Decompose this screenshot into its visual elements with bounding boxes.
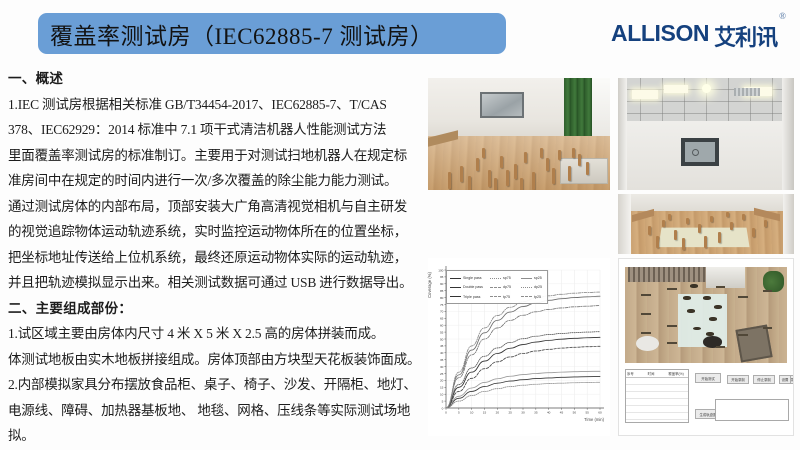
legend-label: sp75 [503, 276, 511, 280]
floor-peg-obstacle [572, 148, 575, 158]
chart-y-tick-label: 90 [440, 282, 444, 286]
table-row[interactable] [626, 413, 688, 420]
ceiling-light-left [632, 90, 658, 99]
chart-y-tick-label: 10 [440, 393, 444, 397]
slide-header: 覆盖率测试房（IEC62885-7 测试房） ALLISON 艾利讯 ® [0, 0, 800, 68]
chart-y-tick-label: 50 [440, 337, 444, 341]
table-row[interactable] [626, 392, 688, 399]
chart-x-tick-label: 45 [560, 410, 564, 414]
title-banner: 覆盖率测试房（IEC62885-7 测试房） [38, 13, 506, 54]
legend-label: Triple pass [463, 295, 480, 299]
camera-feed-view [625, 267, 787, 363]
floor-peg-obstacle [686, 218, 689, 224]
wall-window [480, 92, 524, 118]
legend-line-swatch [450, 287, 461, 288]
chart-x-tick-label: 10 [470, 410, 474, 414]
chart-y-tick-label: 45 [440, 344, 444, 348]
chart-y-tick-label: 85 [440, 289, 444, 293]
log-textarea[interactable] [715, 399, 789, 421]
floor-peg-obstacle [494, 178, 497, 190]
chart-y-tick-label: 60 [440, 324, 444, 328]
debris-marker [709, 317, 717, 321]
floor-peg-obstacle [558, 150, 561, 160]
legend-entry: tp75 [490, 295, 521, 299]
button-2[interactable]: 停止录制 [753, 375, 775, 384]
floor-reference-mark [667, 325, 677, 327]
floor-peg-obstacle [468, 176, 471, 190]
legend-label: Double pass [463, 285, 483, 289]
body-line: 1.试区域主要由房体内尺寸 4 米 X 5 米 X 2.5 高的房体拼装而成。 [8, 321, 426, 347]
overhead-plant [763, 271, 784, 292]
legend-line-swatch [450, 296, 461, 297]
table-column-header: 序号 [626, 370, 647, 377]
company-logo: ALLISON 艾利讯 ® [611, 20, 786, 52]
button-1[interactable]: 开始录制 [727, 375, 749, 384]
chart-x-tick-label: 5 [458, 410, 460, 414]
floor-peg-obstacle [482, 148, 485, 158]
chart-y-axis-label: Coverage (%) [427, 272, 432, 298]
chart-x-tick-label: 30 [521, 410, 525, 414]
chart-y-tick-label: 75 [440, 303, 444, 307]
chart-x-tick-label: 50 [573, 410, 577, 414]
floor-peg-obstacle [682, 238, 685, 250]
chart-x-axis-label: Time (min) [584, 417, 604, 422]
body-heading: 一、概述 [8, 66, 426, 92]
floor-peg-obstacle [764, 220, 767, 227]
floor-peg-obstacle [546, 158, 549, 171]
floor-reference-mark [641, 294, 651, 296]
legend-entry: sp75 [490, 276, 521, 280]
floor-peg-obstacle [704, 236, 707, 248]
overhead-ceiling-grid [628, 267, 709, 282]
legend-label: sp25 [534, 276, 542, 280]
body-line: 把坐标地址传送给上位机系统，最终还原运动物体实际的运动轨迹， [8, 245, 426, 271]
legend-entry: tp25 [521, 295, 552, 299]
table-row[interactable] [626, 378, 688, 385]
chart-y-tick-label: 95 [440, 275, 444, 279]
legend-line-swatch [521, 296, 532, 297]
page-title: 覆盖率测试房（IEC62885-7 测试房） [50, 17, 433, 51]
photo-room-pegs [428, 78, 610, 190]
table-column-header: 覆盖率(%) [667, 370, 688, 377]
debris-marker [690, 284, 698, 288]
floor-peg-obstacle [460, 166, 463, 182]
body-line: 通过测试房体的内部布局，顶部安装大广角高清视觉相机与自主研发 [8, 194, 426, 220]
floor-peg-obstacle [448, 172, 451, 189]
floor-peg-obstacle [500, 156, 503, 168]
body-line: 准房间中在规定的时间内进行一次/多次覆盖的除尘能力能力测试。 [8, 168, 426, 194]
chart-y-tick-label: 100 [438, 268, 443, 272]
legend-line-swatch [450, 278, 461, 279]
table-row[interactable] [626, 406, 688, 413]
table-row[interactable] [626, 399, 688, 406]
results-table[interactable]: 序号时间覆盖率(%) [625, 369, 689, 423]
floor-peg-obstacle [488, 170, 491, 187]
floor-peg-obstacle [726, 212, 729, 217]
floor-peg-obstacle [742, 214, 745, 220]
legend-entry: Single pass [450, 276, 490, 280]
body-line: 378、IEC62929：2014 标准中 7.1 项干式清洁机器人性能测试方法 [8, 117, 426, 143]
legend-label: tp75 [503, 295, 510, 299]
debris-marker [703, 296, 711, 300]
body-heading: 二、主要组成部份： [8, 296, 426, 322]
chart-y-tick-label: 20 [440, 379, 444, 383]
floor-peg-obstacle [710, 216, 713, 222]
chart-x-tick-label: 20 [496, 410, 500, 414]
overhead-white-panel [706, 267, 745, 288]
floor-reference-mark [716, 286, 726, 288]
chart-y-tick-label: 35 [440, 358, 444, 362]
body-line: 的视觉追踪物体运动轨迹系统，实时监控运动物体所在的位置坐标， [8, 219, 426, 245]
floor-peg-obstacle [506, 170, 509, 186]
floor-peg-obstacle [730, 222, 733, 230]
panel-indicator-icon [692, 149, 699, 156]
legend-line-swatch [521, 278, 532, 279]
floor-peg-obstacle [578, 154, 581, 166]
legend-line-swatch [521, 287, 532, 288]
floor-peg-obstacle [648, 226, 651, 235]
debris-marker [687, 309, 695, 313]
floor-reference-mark [763, 327, 773, 329]
logo-text-en: ALLISON [611, 20, 709, 47]
floor-peg-obstacle [674, 230, 677, 240]
right-wall-edge [782, 78, 794, 190]
legend-entry: dp25 [521, 285, 552, 289]
registered-trademark-icon: ® [779, 11, 786, 21]
floor-reference-mark [641, 313, 651, 315]
table-header-row: 序号时间覆盖率(%) [626, 370, 688, 378]
button-settings[interactable]: 设置 [779, 375, 791, 384]
body-line: 体测试地板由实木地板拼接组成。房体顶部由方块型天花板装饰面成。 [8, 347, 426, 373]
chart-y-tick-label: 5 [442, 399, 444, 403]
floor-reference-mark [763, 290, 773, 292]
body-line: 电源线、障碍、加热器基板地、 地毯、网格、压线条等实际测试场地 [8, 398, 426, 424]
floor-peg-obstacle [698, 224, 701, 233]
floor-reference-mark [716, 346, 726, 348]
legend-entry: Double pass [450, 285, 490, 289]
chart-y-tick-label: 25 [440, 372, 444, 376]
table-body [626, 378, 688, 420]
chart-x-tick-label: 25 [508, 410, 512, 414]
room-wall [618, 194, 794, 212]
chart-y-tick-label: 70 [440, 310, 444, 314]
chart-y-tick-label: 15 [440, 386, 444, 390]
legend-entry: sp25 [521, 276, 552, 280]
floor-peg-obstacle [524, 152, 527, 163]
debris-marker [706, 332, 714, 336]
legend-label: tp25 [534, 295, 541, 299]
legend-label: dp75 [503, 285, 511, 289]
legend-line-swatch [490, 278, 501, 279]
table-row[interactable] [626, 385, 688, 392]
body-line: 2.内部模拟家具分布摆放食品柜、桌子、椅子、沙发、开隔柜、地灯、 [8, 372, 426, 398]
legend-line-swatch [490, 287, 501, 288]
left-wall-edge [618, 78, 627, 190]
floor-reference-mark [738, 334, 748, 336]
floor-peg-obstacle [668, 214, 671, 220]
door-frame-left [618, 194, 631, 254]
chart-x-tick-label: 60 [598, 410, 602, 414]
ceiling-light-center [664, 85, 688, 93]
floor-peg-obstacle [514, 164, 517, 179]
wall-panel-frame [681, 138, 719, 166]
legend-entry: dp75 [490, 285, 521, 289]
table-column-header: 时间 [647, 370, 668, 377]
chart-x-tick-label: 15 [483, 410, 487, 414]
floor-peg-obstacle [656, 236, 659, 248]
chart-y-tick-label: 40 [440, 351, 444, 355]
chart-y-tick-label: 65 [440, 317, 444, 321]
photo-ceiling [618, 78, 794, 190]
floor-reference-mark [738, 296, 748, 298]
debris-marker [683, 296, 691, 300]
floor-peg-obstacle [552, 168, 555, 184]
floor-reference-mark [667, 288, 677, 290]
door-frame-right [783, 194, 794, 254]
body-line: 里面覆盖率测试房的标准制订。主要用于对测试扫地机器人在规定标 [8, 143, 426, 169]
chart-y-tick-label: 0 [442, 406, 444, 410]
floor-peg-obstacle [586, 162, 589, 175]
floor-reference-mark [667, 342, 677, 344]
body-line: 1.IEC 测试房根据相关标准 GB/T34454-2017、IEC62885-… [8, 92, 426, 118]
chart-legend: Single passsp75sp25Double passdp75dp25Tr… [446, 270, 548, 304]
floor-peg-obstacle [476, 158, 479, 171]
chart-x-tick-label: 40 [547, 410, 551, 414]
ceiling-vent [734, 88, 760, 96]
logo-text-cn: 艾利讯 [714, 20, 777, 52]
slide-page: 覆盖率测试房（IEC62885-7 测试房） ALLISON 艾利讯 ® 一、概… [0, 0, 800, 450]
floor-peg-obstacle [520, 178, 523, 190]
floor-peg-obstacle [718, 232, 721, 243]
legend-line-swatch [490, 296, 501, 297]
overhead-chair [736, 324, 774, 362]
body-line: 并且把轨迹模拟显示出来。相关测试数据可通过 USB 进行数据导出。 [8, 270, 426, 296]
chart-y-tick-label: 30 [440, 365, 444, 369]
floor-peg-obstacle [568, 166, 571, 181]
legend-label: dp25 [534, 285, 542, 289]
chart-y-tick-label: 55 [440, 330, 444, 334]
photo-room-carpet [618, 194, 794, 254]
body-line: 拟。 [8, 423, 426, 449]
chart-x-tick-label: 55 [585, 410, 589, 414]
floor-peg-obstacle [662, 220, 665, 227]
button-start-test[interactable]: 开始测试 [695, 373, 721, 383]
floor-peg-obstacle [532, 172, 535, 190]
coverage-chart: 0510152025303540455055606570758085909510… [428, 258, 610, 436]
body-text-column: 一、概述1.IEC 测试房根据相关标准 GB/T34454-2017、IEC62… [8, 66, 426, 446]
chart-y-tick-label: 80 [440, 296, 444, 300]
chart-x-tick-label: 35 [534, 410, 538, 414]
photo-software: 序号时间覆盖率(%) 开始测试开始录制停止录制数据导出设置生成轨迹图 [618, 258, 794, 436]
floor-peg-obstacle [752, 228, 755, 237]
legend-label: Single pass [463, 276, 482, 280]
chart-x-tick-label: 0 [445, 410, 447, 414]
floor-peg-obstacle [540, 148, 543, 158]
floor-reference-mark [641, 332, 651, 334]
legend-entry: Triple pass [450, 295, 490, 299]
